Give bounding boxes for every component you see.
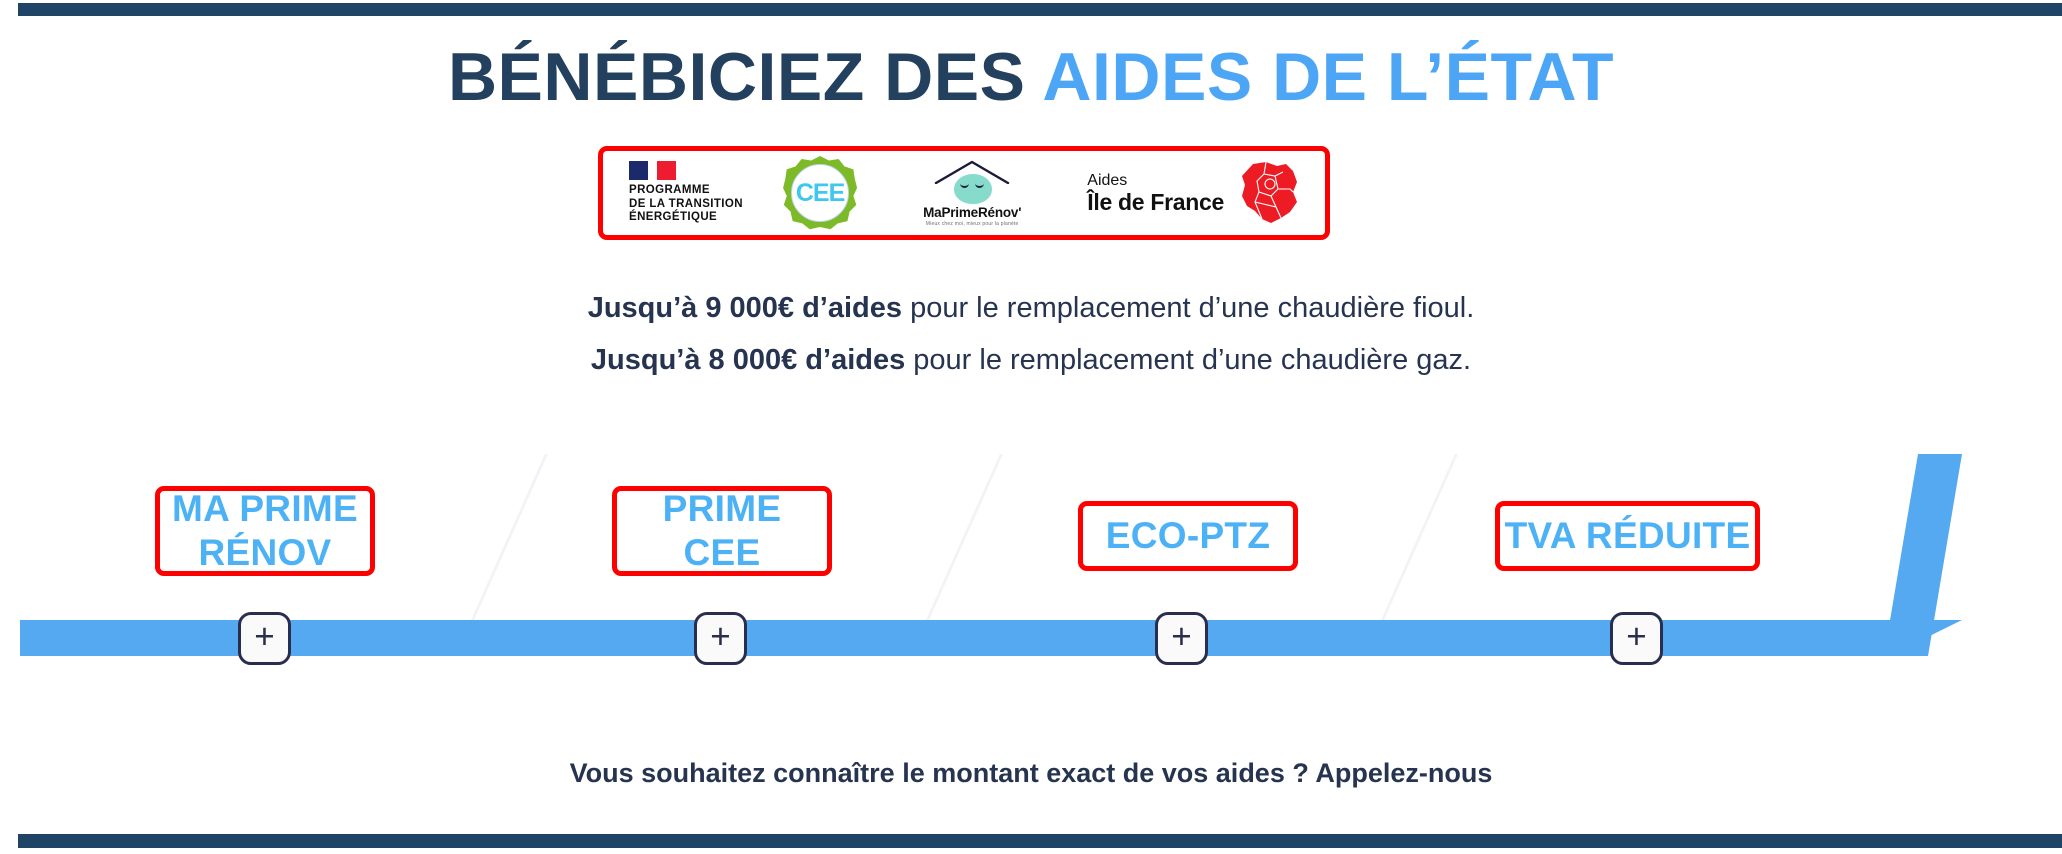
aid-amount-gaz-bold: Jusqu’à 8 000€ d’aides — [591, 344, 905, 376]
logo-programme-line2: DE LA TRANSITION — [629, 198, 743, 212]
partner-logo-strip: PROGRAMME DE LA TRANSITION ÉNERGÉTIQUE C… — [598, 146, 1330, 240]
cee-inner-circle: CEE — [791, 164, 849, 222]
aid-amount-gaz-rest: pour le remplacement d’une chaudière gaz… — [905, 344, 1471, 376]
expand-button-tva-reduite[interactable]: + — [1610, 612, 1663, 665]
page-title: BÉNÉBICIEZ DES AIDES DE L’ÉTAT — [0, 40, 2062, 114]
page-title-light-part: AIDES DE L’ÉTAT — [1042, 39, 1614, 115]
logo-idf-small-label: Aides — [1087, 172, 1127, 190]
aid-amount-lines: Jusqu’à 9 000€ d’aides pour le remplacem… — [0, 282, 2062, 386]
logo-maprimerenov-tagline: Mieux chez moi, mieux pour la planète — [926, 221, 1019, 227]
logo-cee: CEE — [783, 156, 857, 230]
ile-de-france-map-icon — [1233, 162, 1299, 224]
logo-aides-ile-de-france: Aides Île de France — [1087, 162, 1299, 224]
aid-badge-tva-reduite[interactable]: TVA RÉDUITE — [1495, 501, 1760, 571]
banner-blue-bar — [20, 620, 1962, 656]
expand-button-eco-ptz[interactable]: + — [1155, 612, 1208, 665]
aid-amount-fioul-rest: pour le remplacement d’une chaudière fio… — [902, 292, 1474, 324]
logo-idf-big-label: Île de France — [1087, 190, 1224, 215]
aid-amount-line-fioul: Jusqu’à 9 000€ d’aides pour le remplacem… — [0, 282, 2062, 334]
aid-badge-ma-prime-renov[interactable]: MA PRIME RÉNOV — [155, 486, 375, 576]
expand-button-ma-prime-renov[interactable]: + — [238, 612, 291, 665]
logo-programme-transition-energetique: PROGRAMME DE LA TRANSITION ÉNERGÉTIQUE — [629, 161, 743, 225]
expand-button-prime-cee[interactable]: + — [694, 612, 747, 665]
french-flag-icon — [629, 161, 743, 180]
aid-amount-line-gaz: Jusqu’à 8 000€ d’aides pour le remplacem… — [0, 334, 2062, 386]
promo-banner-page: BÉNÉBICIEZ DES AIDES DE L’ÉTAT PROGRAMME… — [0, 0, 2062, 854]
aid-badge-prime-cee[interactable]: PRIME CEE — [612, 486, 832, 576]
bottom-divider-rule — [18, 834, 2062, 848]
logo-cee-label: CEE — [796, 181, 844, 206]
logo-programme-line1: PROGRAMME — [629, 184, 743, 198]
logo-programme-text: PROGRAMME DE LA TRANSITION ÉNERGÉTIQUE — [629, 184, 743, 225]
logo-maprimerenov-name: MaPrimeRénov' — [923, 205, 1021, 220]
top-divider-rule — [18, 3, 2062, 16]
aid-types-banner: MA PRIME RÉNOV PRIME CEE ECO-PTZ TVA RÉD… — [0, 446, 2062, 666]
logo-programme-line3: ÉNERGÉTIQUE — [629, 211, 743, 225]
call-us-cta-text: Vous souhaitez connaître le montant exac… — [0, 758, 2062, 789]
maprimerenov-house-smiley-icon — [934, 160, 1010, 204]
aid-amount-fioul-bold: Jusqu’à 9 000€ d’aides — [588, 292, 902, 324]
page-title-dark-part: BÉNÉBICIEZ DES — [448, 39, 1042, 115]
logo-maprimerenov: MaPrimeRénov' Mieux chez moi, mieux pour… — [897, 160, 1047, 227]
aid-badge-eco-ptz[interactable]: ECO-PTZ — [1078, 501, 1298, 571]
